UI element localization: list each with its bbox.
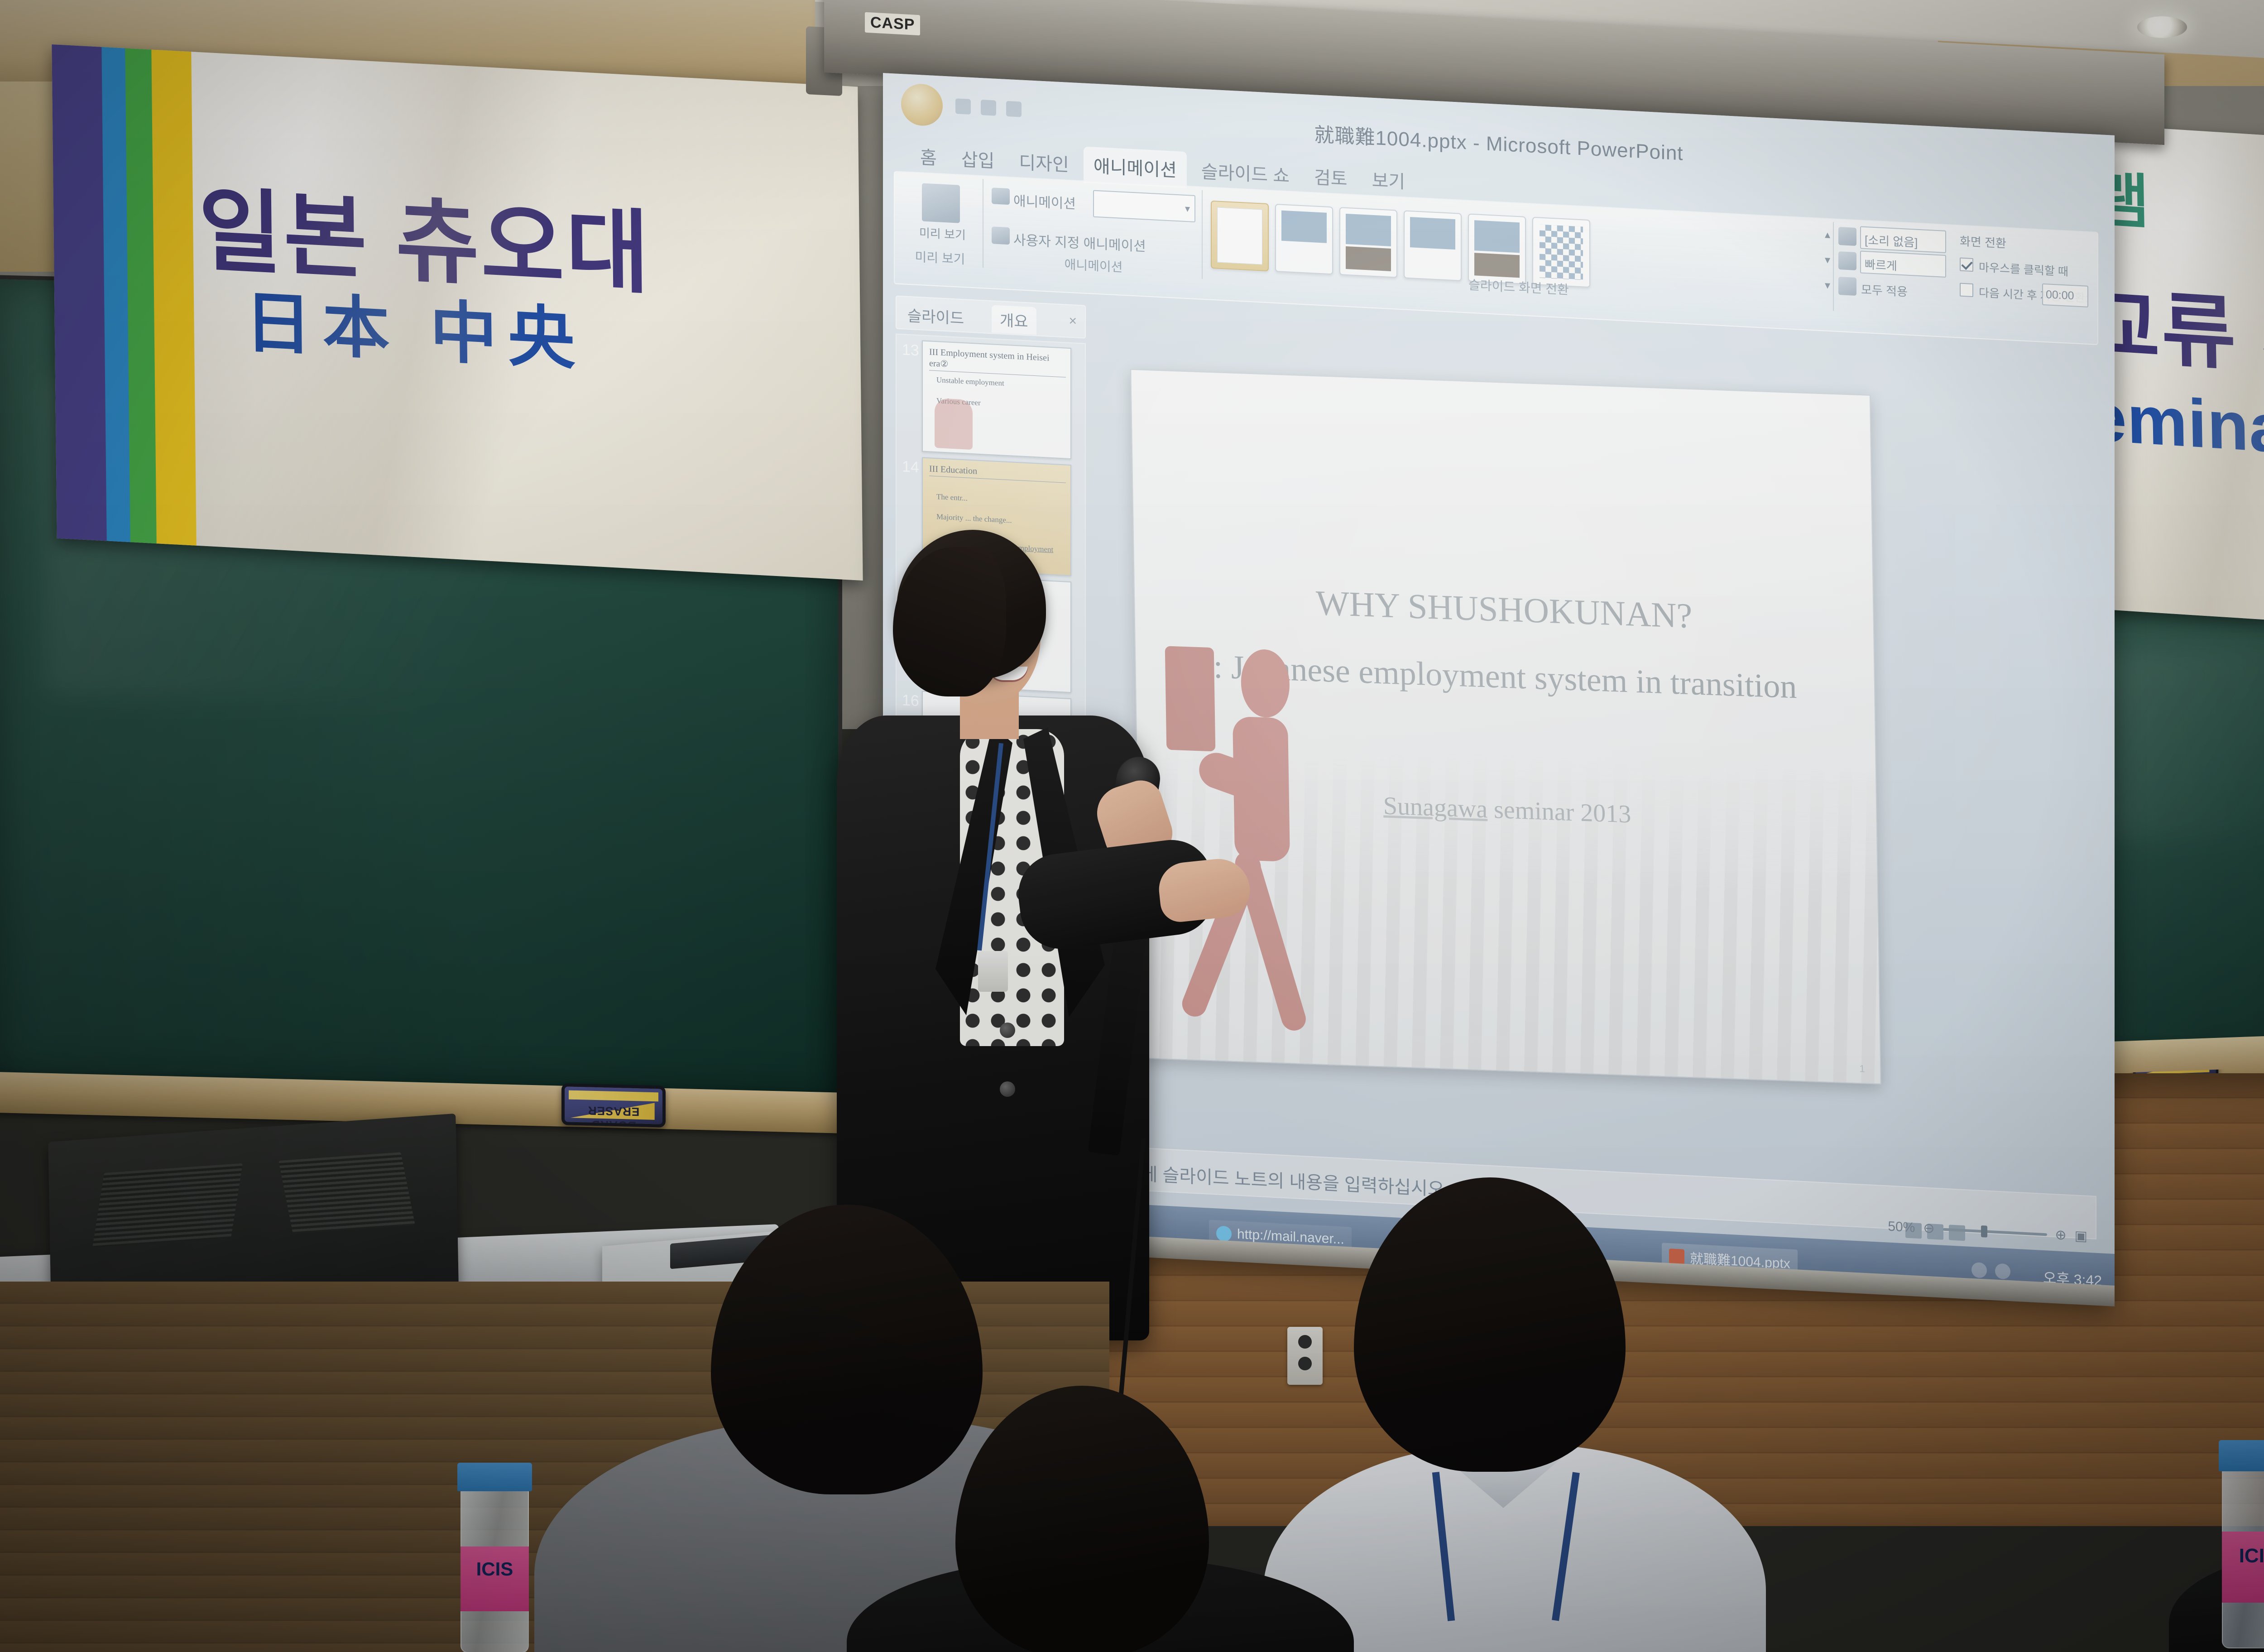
custom-animation-label[interactable]: 사용자 지정 애니메이션 xyxy=(1013,229,1146,255)
tab-review[interactable]: 검토 xyxy=(1304,158,1357,197)
thumb-title: III Employment system in Heisei era② xyxy=(929,347,1066,377)
advance-on-click-label[interactable]: 마우스를 클릭할 때 xyxy=(1979,259,2068,279)
transition-sound-value: [소리 없음] xyxy=(1865,231,1918,250)
current-slide[interactable]: WHY SHUSHOKUNAN? : Japanese employment s… xyxy=(1131,369,1882,1085)
preview-button-label[interactable]: 미리 보기 xyxy=(919,224,966,243)
fit-to-window-icon[interactable]: ▣ xyxy=(2075,1228,2087,1244)
zoom-slider[interactable] xyxy=(1943,1228,2047,1236)
ribbon-group-preview: 미리 보기 미리 보기 xyxy=(897,175,983,268)
apply-all-label[interactable]: 모두 적용 xyxy=(1861,281,1908,300)
housing-brand-label: CASP xyxy=(865,12,920,36)
ceiling-downlight-icon xyxy=(2137,16,2187,38)
thumbnail-slide-13[interactable]: III Employment system in Heisei era② Uns… xyxy=(922,340,1071,459)
slide-page-number: 1 xyxy=(1860,1063,1866,1075)
thumb-walker-icon xyxy=(935,398,973,450)
zoom-in-icon[interactable]: ⊕ xyxy=(2055,1227,2067,1243)
zoom-level: 50% xyxy=(1888,1219,1915,1235)
presenter-name-badge xyxy=(978,951,1008,992)
monitor-vent xyxy=(92,1163,243,1248)
outlet-socket-icon xyxy=(1298,1335,1312,1349)
speed-icon[interactable] xyxy=(1838,251,1856,270)
custom-animation-icon[interactable] xyxy=(992,226,1010,245)
wall-outlet xyxy=(1287,1327,1323,1385)
transition-fade[interactable] xyxy=(1275,204,1333,274)
banner-left-line2: 日本 中央 xyxy=(244,267,586,383)
slide-walking-figure-icon xyxy=(1165,646,1393,1053)
thumb-number: 13 xyxy=(902,341,919,360)
transition-push[interactable] xyxy=(1339,207,1397,278)
preview-icon[interactable] xyxy=(922,183,960,223)
advance-heading: 화면 전환 xyxy=(1960,232,2006,251)
tray-icon[interactable] xyxy=(1971,1262,1987,1278)
water-bottle[interactable]: ICIS xyxy=(457,1463,532,1652)
jacket-button xyxy=(1000,1081,1015,1097)
zoom-slider-handle[interactable] xyxy=(1981,1225,1987,1237)
advance-time-value: 00:00 xyxy=(2046,288,2074,303)
ppt-icon xyxy=(1669,1249,1684,1265)
advance-on-click-checkbox[interactable] xyxy=(1960,258,1973,272)
bottle-brand: ICIS xyxy=(460,1558,529,1580)
gallery-scroll-up-icon[interactable]: ▴ xyxy=(1825,228,1830,241)
bottle-cap xyxy=(457,1463,532,1491)
sound-icon[interactable] xyxy=(1838,227,1856,246)
slide-editing-area[interactable]: WHY SHUSHOKUNAN? : Japanese employment s… xyxy=(1096,337,2096,1190)
zoom-out-icon[interactable]: ⊖ xyxy=(1923,1220,1934,1236)
board-eraser[interactable]: BOARD ERASER xyxy=(561,1083,666,1128)
thumb-bullet: Majority ... the change... xyxy=(936,512,1065,528)
thumb-title: III Education xyxy=(929,464,1066,483)
bottle-cap xyxy=(2219,1440,2264,1471)
tray-icon[interactable] xyxy=(1995,1263,2010,1280)
group-label-animation: 애니메이션 xyxy=(985,251,1202,280)
transition-speed-value: 빠르게 xyxy=(1865,255,1897,274)
animation-dropdown[interactable]: ▾ xyxy=(1093,190,1195,222)
advance-after-checkbox[interactable] xyxy=(1960,283,1973,298)
banner-left: 일본 츄오대 日本 中央 xyxy=(52,44,863,581)
eraser-band xyxy=(569,1090,659,1101)
ribbon-group-slide: [소리 없음] 빠르게 모두 적용 화면 전환 마우스를 클릭할 때 다음 시간… xyxy=(1835,222,2097,324)
ie-icon xyxy=(1216,1225,1232,1242)
animation-icon[interactable] xyxy=(992,187,1010,205)
bottle-label: ICIS xyxy=(460,1546,529,1611)
animation-label[interactable]: 애니메이션 xyxy=(1013,190,1076,213)
transition-wipe[interactable] xyxy=(1404,210,1462,281)
monitor-vent xyxy=(278,1153,415,1234)
thumb-number: 14 xyxy=(902,458,919,476)
bottle-label: ICIS xyxy=(2222,1532,2264,1602)
close-panel-icon[interactable]: × xyxy=(1069,313,1077,329)
thumb-bullet: The entr... xyxy=(936,492,1065,508)
apply-all-icon[interactable] xyxy=(1838,277,1856,296)
gallery-scroll-down-icon[interactable]: ▾ xyxy=(1825,253,1830,267)
ribbon-group-animation: 애니메이션 ▾ 사용자 지정 애니메이션 애니메이션 xyxy=(985,179,1203,279)
bottle-brand: ICIS xyxy=(2222,1545,2264,1567)
tab-home[interactable]: 홈 xyxy=(910,138,947,176)
tab-slides[interactable]: 슬라이드 xyxy=(907,303,964,328)
jacket-button xyxy=(1000,1023,1015,1038)
board-glare xyxy=(2095,639,2264,841)
system-tray[interactable] xyxy=(1971,1262,2010,1279)
tab-view[interactable]: 보기 xyxy=(1362,161,1415,200)
photo-scene: BOARD ERASER BOARD ERASER 일본 츄오대 日本 中央 그… xyxy=(0,0,2264,1652)
slides-outline-tabstrip[interactable]: 슬라이드 개요 × xyxy=(896,296,1086,339)
transition-split[interactable] xyxy=(1468,214,1526,284)
tab-insert[interactable]: 삽입 xyxy=(951,140,1005,179)
gallery-more-icon[interactable]: ▾ xyxy=(1825,279,1830,292)
transition-none[interactable] xyxy=(1211,201,1269,271)
thumb-bullet: Unstable employment xyxy=(936,375,1065,391)
tab-outline[interactable]: 개요 xyxy=(992,305,1036,335)
eraser-label: BOARD ERASER xyxy=(565,1103,662,1128)
tab-design[interactable]: 디자인 xyxy=(1009,143,1079,182)
water-bottle[interactable]: ICIS xyxy=(2219,1440,2264,1648)
transition-checkerboard[interactable] xyxy=(1532,217,1590,288)
ribbon-group-transition: ▴ ▾ ▾ 슬라이드 화면 전환 xyxy=(1204,190,1834,311)
outlet-socket-icon xyxy=(1298,1357,1312,1370)
group-label-preview: 미리 보기 xyxy=(897,246,983,269)
slide-title: WHY SHUSHOKUNAN? xyxy=(1135,576,1874,643)
